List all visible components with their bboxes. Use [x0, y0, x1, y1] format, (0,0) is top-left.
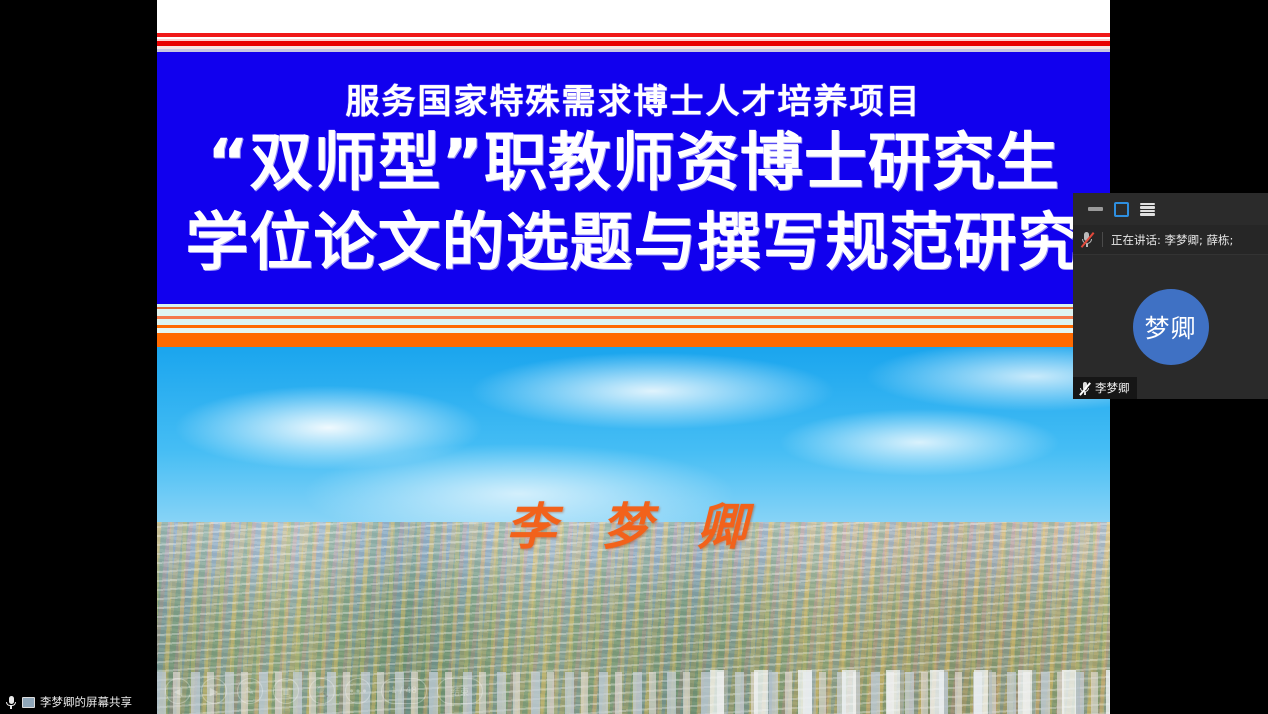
slide-photo: 李 梦 卿	[157, 347, 1110, 714]
zoom-video-panel[interactable]: 正在讲话: 李梦卿; 薛栋; 梦卿 李梦卿	[1073, 193, 1268, 399]
mic-muted-icon[interactable]	[1079, 231, 1094, 248]
active-speaker-text: 正在讲话: 李梦卿; 薛栋;	[1111, 232, 1233, 248]
slide-headline-line-1: “双师型”职教师资博士研究生	[157, 130, 1110, 196]
previous-slide-button[interactable]: ◀	[165, 678, 191, 704]
next-slide-button[interactable]: ▶	[201, 678, 227, 704]
screen-share-label: 李梦卿的屏幕共享	[40, 694, 132, 710]
mic-muted-icon	[1078, 381, 1091, 396]
restore-icon[interactable]	[1114, 202, 1129, 217]
foreground-buildings	[710, 670, 1110, 714]
menu-icon[interactable]	[1140, 203, 1155, 216]
end-show-button[interactable]: 结束	[437, 678, 483, 704]
decor-stripe-red-1	[157, 33, 1110, 37]
avatar-initials: 梦卿	[1144, 309, 1196, 345]
avatar: 梦卿	[1133, 289, 1209, 365]
microphone-icon[interactable]	[5, 695, 17, 710]
presentation-controls[interactable]: ◀ ▶ ✎ ▣ 🔍 ••• 1 / 48 结束	[165, 678, 483, 704]
decor-stripe-lower-3	[157, 309, 1110, 316]
magnifier-icon: 🔍	[315, 685, 329, 698]
end-show-label: 结束	[451, 685, 469, 698]
ellipsis-icon: •••	[348, 685, 367, 698]
participant-name: 李梦卿	[1095, 380, 1130, 396]
all-slides-button[interactable]: ▣	[273, 678, 299, 704]
screen-share-statusbar[interactable]: 李梦卿的屏幕共享	[0, 690, 157, 714]
zoom-in-button[interactable]: 🔍	[309, 678, 335, 704]
grid-icon: ▣	[281, 685, 291, 698]
minimize-icon[interactable]	[1088, 207, 1103, 211]
participant-name-chip: 李梦卿	[1073, 377, 1137, 399]
shared-slide[interactable]: 服务国家特殊需求博士人才培养项目 “双师型”职教师资博士研究生 学位论文的选题与…	[157, 0, 1110, 714]
screen-root: 服务国家特殊需求博士人才培养项目 “双师型”职教师资博士研究生 学位论文的选题与…	[0, 0, 1268, 714]
slide-title-block: 服务国家特殊需求博士人才培养项目 “双师型”职教师资博士研究生 学位论文的选题与…	[157, 52, 1110, 304]
slide-counter: 1 / 48	[381, 678, 427, 704]
zoom-panel-titlebar[interactable]	[1073, 193, 1268, 225]
pen-tool-button[interactable]: ✎	[237, 678, 263, 704]
screen-share-icon[interactable]	[22, 697, 35, 708]
slide-headline-line-2: 学位论文的选题与撰写规范研究	[157, 210, 1110, 276]
divider	[1102, 232, 1103, 247]
previous-slide-icon: ◀	[174, 685, 182, 698]
next-slide-icon: ▶	[210, 685, 218, 698]
decor-stripe-orange-band	[157, 333, 1110, 347]
more-options-button[interactable]: •••	[345, 678, 371, 704]
pen-icon: ✎	[245, 685, 254, 698]
presenter-signature: 李 梦 卿	[157, 487, 1110, 559]
slide-kicker-text: 服务国家特殊需求博士人才培养项目	[157, 74, 1110, 123]
slide-counter-label: 1 / 48	[391, 686, 417, 696]
active-speaker-bar: 正在讲话: 李梦卿; 薛栋;	[1073, 225, 1268, 255]
participant-video-tile[interactable]: 梦卿 李梦卿	[1073, 255, 1268, 399]
